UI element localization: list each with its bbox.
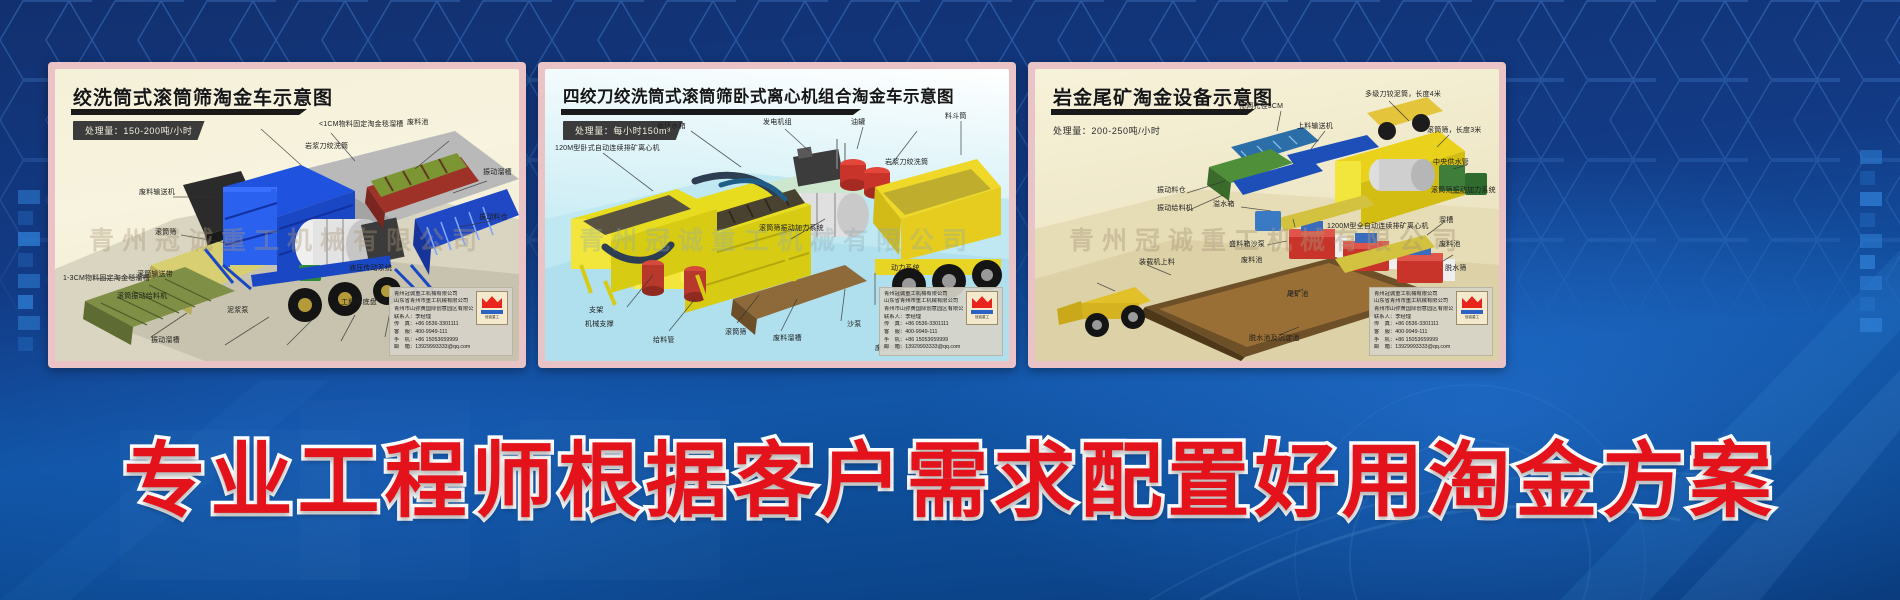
panel-1-callout-5: 废料输送机 [139,189,175,196]
contact-address: 青州市山弥黄国际创意园区有限公司 [394,306,473,314]
contact-hotline: 客 服：400-9949-111 [1374,329,1453,337]
panel-2-callout-6: 滚筒筛振动加力系统 [759,225,824,232]
panel-1-callout-4: 岩浆刀绞洗筒 [305,143,348,150]
contact-email: 邮 箱：13929993333@qq.com [1374,344,1453,352]
panel-3-contact-card[interactable]: 青州冠诚重工机械有限公司 山东省青州市重工机械有限公司 青州市山弥黄国际创意园区… [1369,287,1493,356]
promotional-banner: 青州冠诚重工机械有限公司 绞洗筒式滚筒筛淘金车示意图 处理量：150-200吨/… [0,0,1900,600]
contact-company: 青州冠诚重工机械有限公司 [884,291,963,299]
panel-2-inner: 青州冠诚重工机械有限公司 四绞刀绞洗筒式滚筒筛卧式离心机组合淘金车示意图 处理量… [545,69,1009,361]
badge-label: 冠诚重工 [975,315,989,320]
diagram-panel-row: 青州冠诚重工机械有限公司 绞洗筒式滚筒筛淘金车示意图 处理量：150-200吨/… [0,62,1900,372]
panel-2-callout-13: 废料溜槽 [773,335,802,342]
panel-3-inner: 青州冠诚重工机械有限公司 岩金尾矿淘金设备示意图 处理量：200-250吨/小时… [1035,69,1499,361]
panel-1-callout-3: 振动料仓 [479,214,508,221]
main-headline: 专业工程师根据客户需求配置好用淘金方案 [123,414,1776,533]
panel-1-callout-13: 振动溜槽 [151,337,180,344]
panel-2-callout-0: 发电机组 [763,119,792,126]
panel-1-callout-8: 滚筒振动给料机 [117,293,167,300]
panel-2-callout-8: 支架 [589,307,603,314]
panel-3-callout-11: 盛料箱沙泵 [1229,241,1265,248]
panel-1-title: 绞洗筒式滚筒筛淘金车示意图 [73,83,333,110]
contact-person: 联系人：李经理 [394,314,473,322]
panel-3-callout-12: 废料池 [1241,257,1263,264]
diagram-panel-2[interactable]: 青州冠诚重工机械有限公司 四绞刀绞洗筒式滚筒筛卧式离心机组合淘金车示意图 处理量… [538,62,1016,368]
contact-person: 联系人：李经理 [1374,314,1453,322]
contact-person: 联系人：李经理 [884,314,963,322]
badge-bar [1461,310,1483,314]
crown-icon [1462,295,1482,308]
contact-company-alt: 山东省青州市重工机械有限公司 [884,298,963,306]
panel-3-callout-15: 1200M型全自动连续排矿离心机 [1327,223,1429,230]
badge-label: 冠诚重工 [485,315,499,320]
contact-address: 青州市山弥黄国际创意园区有限公司 [884,306,963,314]
panel-1-callout-9: 泥浆泵 [227,307,249,314]
panel-3-contact-lines: 青州冠诚重工机械有限公司 山东省青州市重工机械有限公司 青州市山弥黄国际创意园区… [1374,291,1453,352]
panel-2-contact-card[interactable]: 青州冠诚重工机械有限公司 山东省青州市重工机械有限公司 青州市山弥黄国际创意园区… [879,287,1003,356]
panel-3-callout-7: 滚筒筛振动加力系统 [1431,187,1496,194]
badge-label: 冠诚重工 [1465,315,1479,320]
panel-2-title: 四绞刀绞洗筒式滚筒筛卧式离心机组合淘金车示意图 [563,83,954,107]
panel-3-title-rule [1051,109,1255,115]
panel-1-inner: 青州冠诚重工机械有限公司 绞洗筒式滚筒筛淘金车示意图 处理量：150-200吨/… [55,69,519,361]
panel-2-callout-1: 循环水箱 [657,123,686,130]
panel-1-title-rule [71,109,307,115]
crown-icon [972,295,992,308]
panel-3-callout-16: 装载机上料 [1139,259,1175,266]
panel-1-contact-card[interactable]: 青州冠诚重工机械有限公司 山东省青州市重工机械有限公司 青州市山弥黄国际创意园区… [389,287,513,356]
contact-mobile: 手 机：+86 15053659999 [1374,337,1453,345]
contact-hotline: 客 服：400-9949-111 [884,329,963,337]
panel-2-title-rule [561,109,861,115]
panel-3-callout-13: 尾矿池 [1287,291,1309,298]
panel-2-callout-2: 油罐 [851,119,865,126]
badge-bar [481,310,503,314]
diagram-panel-1[interactable]: 青州冠诚重工机械有限公司 绞洗筒式滚筒筛淘金车示意图 处理量：150-200吨/… [48,62,526,368]
diagram-panel-3[interactable]: 青州冠诚重工机械有限公司 岩金尾矿淘金设备示意图 处理量：200-250吨/小时… [1028,62,1506,368]
certification-badge: 冠 冠诚重工 [1456,291,1488,325]
contact-company-alt: 山东省青州市重工机械有限公司 [1374,298,1453,306]
certification-badge: 冠 冠诚重工 [476,291,508,325]
panel-3-callout-2: 上料输送机 [1297,123,1333,130]
contact-company: 青州冠诚重工机械有限公司 [1374,291,1453,299]
crown-icon [482,295,502,308]
panel-2-callout-3: 料斗筒 [945,113,967,120]
contact-fax: 传 真：+86 0536-3301111 [1374,321,1453,329]
contact-email: 邮 箱：13929993333@qq.com [394,344,473,352]
contact-mobile: 手 机：+86 15053659999 [884,337,963,345]
contact-fax: 传 真：+86 0536-3301111 [884,321,963,329]
badge-bar [971,310,993,314]
panel-2-callout-5: 120M型卧式自动连续排矿离心机 [555,145,660,152]
panel-3-callout-14: 脱水筛 [1445,265,1467,272]
certification-badge: 冠 冠诚重工 [966,291,998,325]
panel-2-contact-lines: 青州冠诚重工机械有限公司 山东省青州市重工机械有限公司 青州市山弥黄国际创意园区… [884,291,963,352]
panel-3-callout-8: 溢水箱 [1213,201,1235,208]
contact-company-alt: 山东省青州市重工机械有限公司 [394,298,473,306]
panel-2-callout-11: 给料管 [653,337,675,344]
contact-company: 青州冠诚重工机械有限公司 [394,291,473,299]
panel-3-callout-9: 溜槽 [1439,217,1453,224]
contact-fax: 传 真：+86 0536-3301111 [394,321,473,329]
contact-hotline: 客 服：400-9949-111 [394,329,473,337]
panel-1-callout-0: <1CM物料固定淘金毯溜槽 [319,121,403,128]
panel-1-callout-11: 液压传动系统 [349,265,392,272]
panel-3-callout-4: 中央供水管 [1433,159,1469,166]
contact-email: 邮 箱：13929993333@qq.com [884,344,963,352]
panel-1-contact-lines: 青州冠诚重工机械有限公司 山东省青州市重工机械有限公司 青州市山弥黄国际创意园区… [394,291,473,352]
panel-3-capacity-tag: 处理量：200-250吨/小时 [1053,121,1173,140]
panel-2-callout-7: 动力系统 [891,265,920,272]
panel-3-callout-0: 筛网孔径3CM [1239,103,1283,110]
panel-3-callout-6: 振动给料机 [1157,205,1193,212]
panel-1-callout-1: 废料池 [407,119,429,126]
panel-3-callout-3: 滚筒筛，长度3米 [1427,127,1482,134]
panel-1-capacity-tag: 处理量：150-200吨/小时 [73,121,205,140]
headline-container: 专业工程师根据客户需求配置好用淘金方案 [0,398,1900,548]
panel-3-callout-10: 废料池 [1439,241,1461,248]
panel-1-callout-6: 滚筒筛 [155,229,177,236]
panel-3-callout-5: 振动料仓 [1157,187,1186,194]
panel-2-callout-12: 滚筒筛 [725,329,747,336]
panel-1-callout-12: 1-3CM物料固定淘金毯溜槽 [63,275,150,282]
panel-1-callout-2: 振动溜槽 [483,169,512,176]
panel-1-callout-10: 工程车底盘 [341,299,377,306]
panel-2-callout-4: 岩浆刀绞洗筒 [885,159,928,166]
contact-address: 青州市山弥黄国际创意园区有限公司 [1374,306,1453,314]
panel-3-callout-17: 脱水池及沉淀池 [1249,335,1299,342]
contact-mobile: 手 机：+86 15053659999 [394,337,473,345]
panel-2-callout-9: 沙泵 [847,321,861,328]
panel-2-callout-10: 机械支撑 [585,321,614,328]
panel-3-callout-1: 多级刀铰泥筒，长度4米 [1365,91,1441,98]
